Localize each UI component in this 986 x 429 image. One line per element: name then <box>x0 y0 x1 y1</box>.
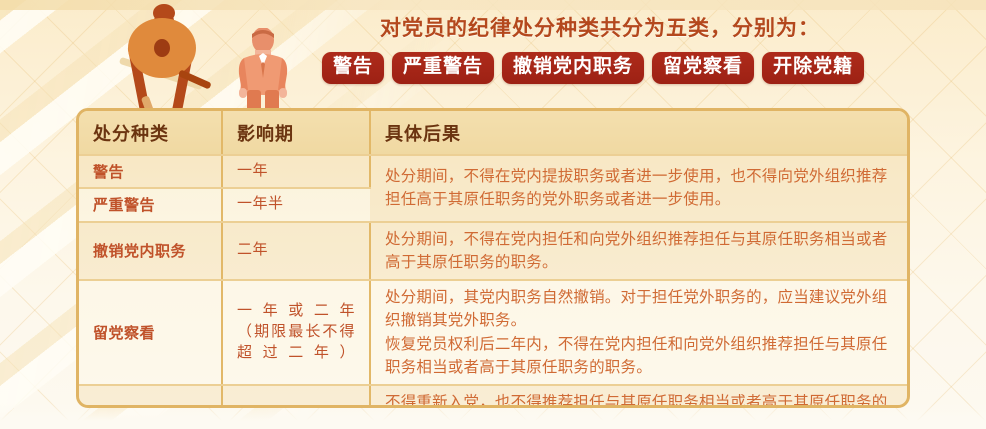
badge-expulsion: 开除党籍 <box>762 52 864 84</box>
cell-category-remove-post: 撤销党内职务 <box>79 222 222 281</box>
table-row: 警告 一年 处分期间，不得在党内提拔职务或者进一步使用，也不得向党外组织推荐担任… <box>79 155 907 188</box>
cell-consequence-probation: 处分期间，其党内职务自然撤销。对于担任党外职务的，应当建议党外组织撤销其党外职务… <box>370 280 907 385</box>
badge-remove-party-post: 撤销党内职务 <box>502 52 644 84</box>
table-row: 开除党籍 受到处分后五年 不得重新入党，也不得推荐担任与其原任职务相当或者高于其… <box>79 385 907 408</box>
judge-with-gavel-wheel-illustration <box>104 4 224 116</box>
cell-category-warning: 警告 <box>79 155 222 188</box>
table-header-row: 处分种类 影响期 具体后果 <box>79 111 907 155</box>
table-row: 留党察看 一年或二年 （期限最长不得超过二年） 处分期间，其党内职务自然撤销。对… <box>79 280 907 385</box>
cell-period-warning: 一年 <box>222 155 370 188</box>
badge-warning: 警告 <box>322 52 384 84</box>
badge-probation: 留党察看 <box>652 52 754 84</box>
infographic-page: 对党员的纪律处分种类共分为五类，分别为： 警告 严重警告 撤销党内职务 留党察看… <box>0 0 986 429</box>
cell-consequence-expulsion: 不得重新入党，也不得推荐担任与其原任职务相当或者高于其原任职务的党外职务。 <box>370 385 907 408</box>
punishment-table: 处分种类 影响期 具体后果 警告 一年 处分期间，不得在党内提拔职务或者进一步使… <box>79 111 907 408</box>
column-header-period: 影响期 <box>222 111 370 155</box>
cell-consequence-remove-post: 处分期间，不得在党内担任和向党外组织推荐担任与其原任职务相当或者高于其原任职务的… <box>370 222 907 281</box>
punishment-table-container: 处分种类 影响期 具体后果 警告 一年 处分期间，不得在党内提拔职务或者进一步使… <box>76 108 910 408</box>
punishment-type-badge-row: 警告 严重警告 撤销党内职务 留党察看 开除党籍 <box>322 52 864 84</box>
column-header-category: 处分种类 <box>79 111 222 155</box>
page-title: 对党员的纪律处分种类共分为五类，分别为： <box>380 12 820 42</box>
cell-category-expulsion: 开除党籍 <box>79 385 222 408</box>
cell-period-remove-post: 二年 <box>222 222 370 281</box>
cell-period-serious-warning: 一年半 <box>222 188 370 221</box>
cell-category-probation: 留党察看 <box>79 280 222 385</box>
cell-consequence-warning-group: 处分期间，不得在党内提拔职务或者进一步使用，也不得向党外组织推荐担任高于其原任职… <box>370 155 907 222</box>
column-header-consequence: 具体后果 <box>370 111 907 155</box>
period-line-1: 一年或二年 <box>237 301 355 322</box>
badge-serious-warning: 严重警告 <box>392 52 494 84</box>
standing-official-illustration <box>228 28 298 120</box>
cell-period-expulsion: 受到处分后五年 <box>222 385 370 408</box>
period-line-2: （期限最长不得超过二年） <box>237 322 355 365</box>
cell-category-serious-warning: 严重警告 <box>79 188 222 221</box>
cell-period-probation: 一年或二年 （期限最长不得超过二年） <box>222 280 370 385</box>
table-row: 撤销党内职务 二年 处分期间，不得在党内担任和向党外组织推荐担任与其原任职务相当… <box>79 222 907 281</box>
